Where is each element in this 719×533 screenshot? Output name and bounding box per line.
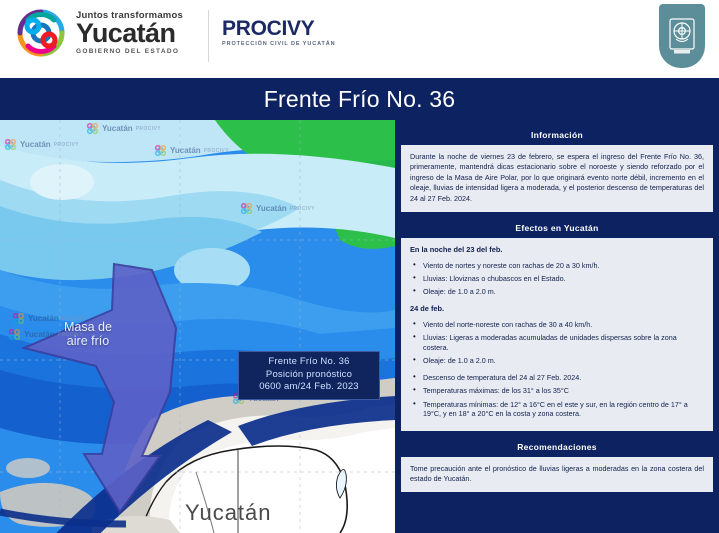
efectos-day1-list: Viento de nortes y noreste con rachas de… — [412, 261, 704, 297]
list-item: Lluvias: Lloviznas o chubascos en el Est… — [412, 274, 704, 284]
list-item: Oleaje: de 1.0 a 2.0 m. — [412, 356, 704, 366]
efectos-day1-title: En la noche del 23 del feb. — [410, 245, 704, 256]
list-item: Temperaturas máximas: de los 31° a los 3… — [412, 386, 704, 396]
procivy-logo: PROCIVY PROTECCIÓN CIVIL DE YUCATÁN — [222, 18, 336, 48]
list-item: Oleaje: de 1.0 a 2.0 m. — [412, 287, 704, 297]
yucatan-logo-icon — [14, 6, 68, 60]
informacion-text: Durante la noche de viernes 23 de febrer… — [410, 152, 704, 204]
callout-line-2: Posición pronóstico — [244, 369, 374, 382]
info-panel: Información Durante la noche de viernes … — [395, 120, 719, 533]
agency-subtitle: PROTECCIÓN CIVIL DE YUCATÁN — [222, 42, 336, 48]
efectos-day2-title: 24 de feb. — [410, 304, 704, 315]
agency-name: PROCIVY — [222, 18, 336, 39]
list-item: Viento de nortes y noreste con rachas de… — [412, 261, 704, 271]
page-title: Frente Frío No. 36 — [264, 86, 456, 113]
recomendaciones-text: Tome precaución ante el pronóstico de ll… — [410, 464, 704, 485]
brand-name: Yucatán — [76, 21, 183, 47]
informacion-body: Durante la noche de viernes 23 de febrer… — [401, 145, 713, 212]
informacion-heading: Información — [401, 125, 713, 145]
weather-map[interactable]: Yucatán PROCIVY Yucatán PROCIVY Yucatán … — [0, 120, 395, 533]
front-position-callout: Frente Frío No. 36 Posición pronóstico 0… — [238, 351, 380, 400]
yucatan-coat-of-arms-icon — [659, 4, 705, 68]
recomendaciones-heading: Recomendaciones — [401, 437, 713, 457]
efectos-day2-list: Viento del norte-noreste con rachas de 3… — [412, 320, 704, 366]
efectos-body: En la noche del 23 del feb. Viento de no… — [401, 238, 713, 430]
list-item: Descenso de temperatura del 24 al 27 Feb… — [412, 373, 704, 383]
callout-line-3: 0600 am/24 Feb. 2023 — [244, 381, 374, 394]
map-graphic — [0, 120, 395, 533]
list-item: Lluvias: Ligeras a moderadas acumuladas … — [412, 333, 704, 352]
forecast-infographic: Juntos transformamos Yucatán GOBIERNO DE… — [0, 0, 719, 533]
list-item: Temperaturas mínimas: de 12° a 16°C en e… — [412, 400, 704, 419]
title-bar: Frente Frío No. 36 — [0, 78, 719, 120]
efectos-temperature-list: Descenso de temperatura del 24 al 27 Feb… — [412, 373, 704, 419]
header-bar: Juntos transformamos Yucatán GOBIERNO DE… — [0, 0, 719, 78]
yucatan-government-logo: Juntos transformamos Yucatán GOBIERNO DE… — [14, 6, 183, 60]
brand-subtitle: GOBIERNO DEL ESTADO — [76, 49, 183, 56]
efectos-heading: Efectos en Yucatán — [401, 218, 713, 238]
list-item: Viento del norte-noreste con rachas de 3… — [412, 320, 704, 330]
callout-line-1: Frente Frío No. 36 — [244, 356, 374, 369]
recomendaciones-body: Tome precaución ante el pronóstico de ll… — [401, 457, 713, 493]
header-divider — [208, 10, 209, 62]
